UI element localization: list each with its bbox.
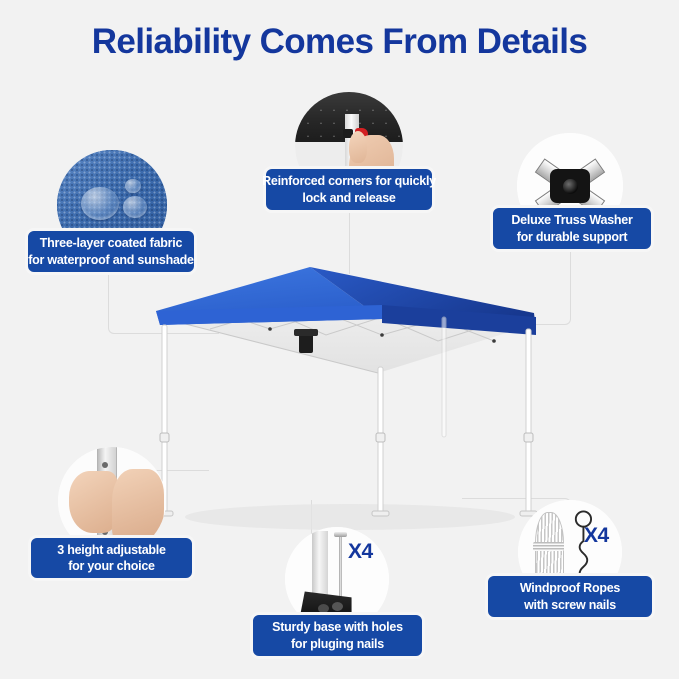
page-title: Reliability Comes From Details — [0, 22, 679, 62]
callout-box-sturdy-base[interactable]: Sturdy base with holes for pluging nails — [250, 612, 425, 659]
infographic-page: Reliability Comes From Details — [0, 0, 679, 679]
callout-box-three-layer-fabric[interactable]: Three-layer coated fabric for waterproof… — [25, 228, 197, 275]
callout-box-height-adjustable[interactable]: 3 height adjustable for your choice — [28, 535, 195, 581]
callout-box-deluxe-truss-washer[interactable]: Deluxe Truss Washer for durable support — [490, 205, 654, 252]
callout-line-2: with screw nails — [524, 597, 616, 614]
callout-box-reinforced-corners[interactable]: Reinforced corners for quickly lock and … — [263, 166, 435, 213]
badge-x4-ropes: X4 — [584, 524, 609, 548]
badge-x4-base: X4 — [348, 540, 373, 564]
callout-line-1: Reinforced corners for quickly — [262, 173, 436, 190]
callout-line-1: Three-layer coated fabric — [40, 235, 182, 252]
callout-line-2: for your choice — [68, 558, 155, 575]
callout-line-1: Windproof Ropes — [520, 580, 620, 597]
callout-line-1: Sturdy base with holes — [272, 619, 403, 636]
callout-box-windproof-ropes[interactable]: Windproof Ropes with screw nails — [485, 573, 655, 620]
callout-line-2: for waterproof and sunshade — [28, 252, 194, 269]
callout-line-2: for pluging nails — [291, 636, 384, 653]
callout-line-2: for durable support — [517, 229, 628, 246]
callout-line-1: Deluxe Truss Washer — [511, 212, 632, 229]
callout-line-1: 3 height adjustable — [57, 542, 165, 559]
callout-line-2: lock and release — [302, 190, 395, 207]
canopy-tent-illustration — [150, 255, 540, 545]
